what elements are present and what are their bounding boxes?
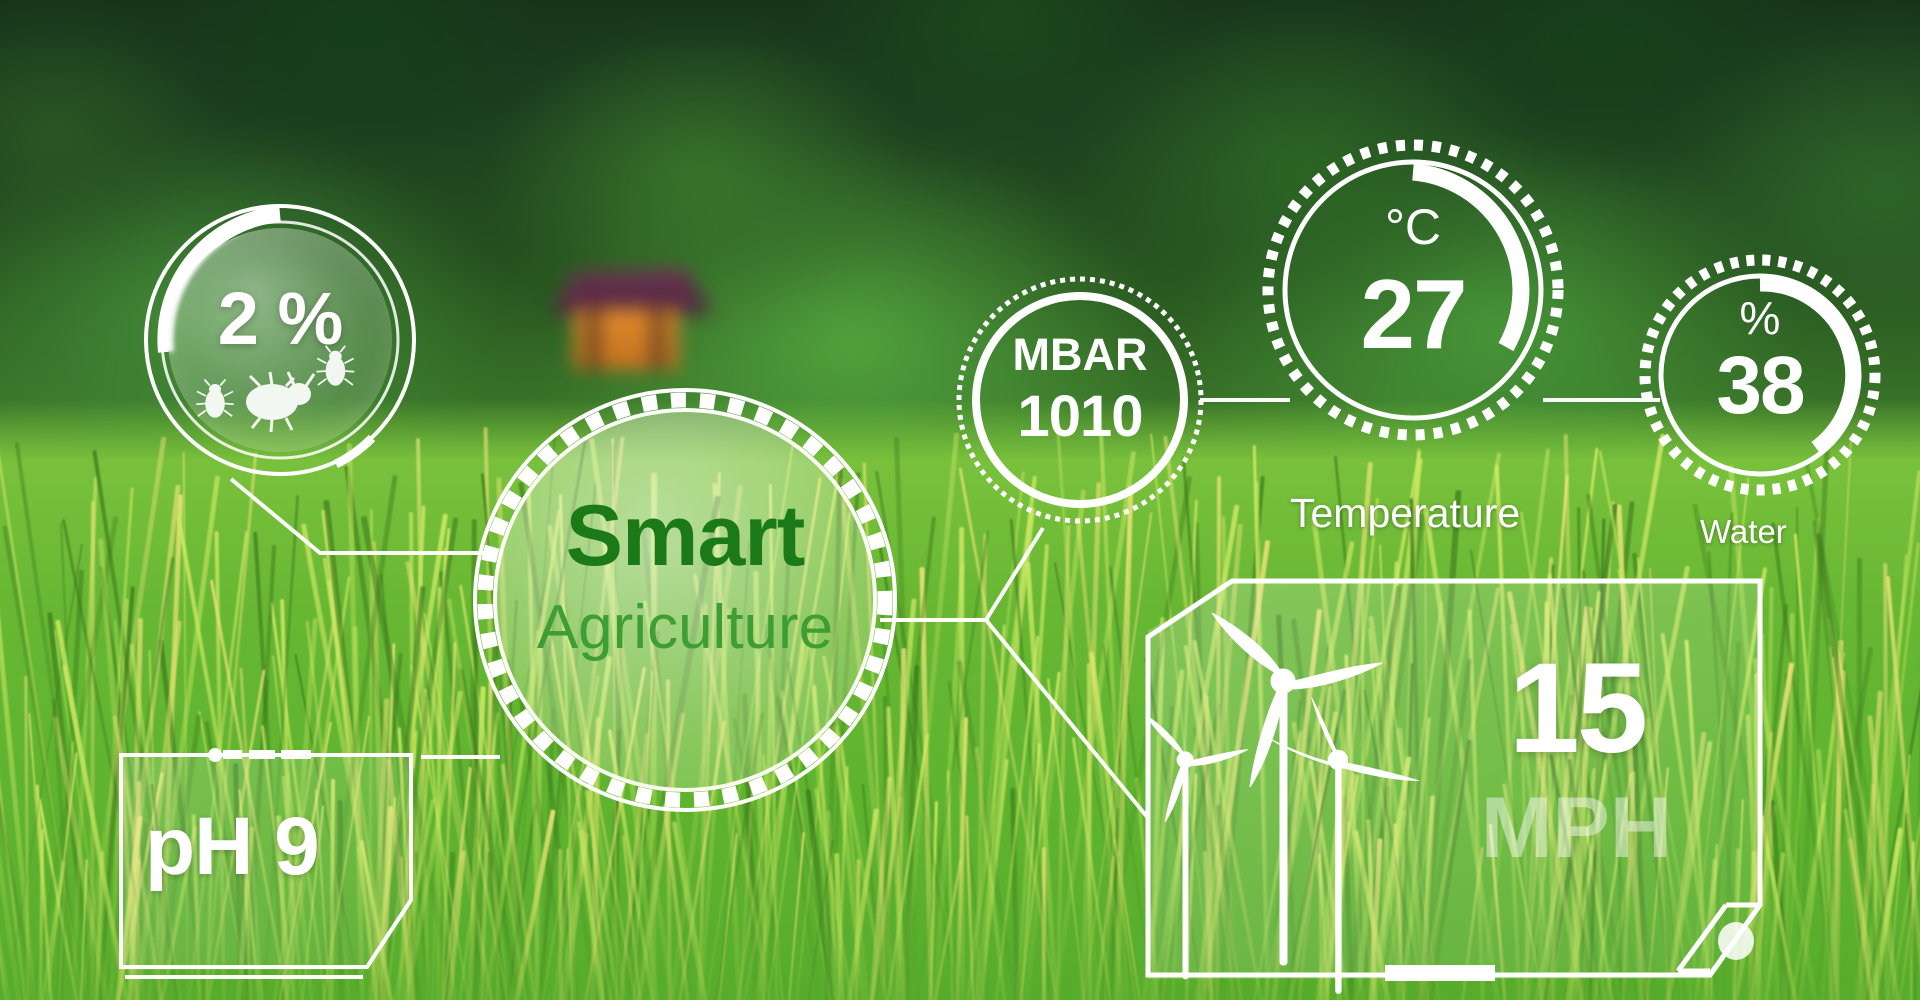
pressure-gauge[interactable]: MBAR 1010	[955, 275, 1205, 525]
ph-value: pH 9	[145, 800, 319, 894]
temperature-label: Temperature	[1290, 490, 1520, 537]
house-post-left	[588, 308, 599, 370]
farm-house	[540, 258, 710, 378]
wind-value: 15	[1509, 645, 1645, 773]
brand-subtitle: Agriculture	[470, 597, 900, 659]
insects-icon	[194, 350, 374, 440]
smart-agriculture-hud-scene: 2 %	[0, 0, 1920, 1000]
ph-panel[interactable]: pH 9	[115, 745, 425, 995]
wind-panel[interactable]: 15 MPH	[1140, 575, 1770, 995]
water-label: Water	[1700, 513, 1787, 551]
water-gauge[interactable]: % 38	[1640, 255, 1880, 495]
brand-circle[interactable]: Smart Agriculture	[470, 385, 900, 815]
temperature-unit: °C	[1263, 198, 1563, 256]
wind-unit: MPH	[1481, 785, 1672, 871]
brand-title: Smart	[470, 493, 900, 579]
water-unit: %	[1640, 291, 1880, 345]
temperature-value: 27	[1263, 258, 1563, 371]
temperature-gauge[interactable]: °C 27	[1263, 140, 1563, 440]
house-post-right	[652, 308, 663, 370]
pest-value: 2 %	[140, 276, 420, 361]
pest-gauge[interactable]: 2 %	[140, 200, 420, 480]
pressure-unit: MBAR	[955, 329, 1205, 381]
water-value: 38	[1640, 339, 1880, 433]
wind-turbine-icon	[1168, 615, 1498, 965]
pressure-value: 1010	[955, 383, 1205, 450]
